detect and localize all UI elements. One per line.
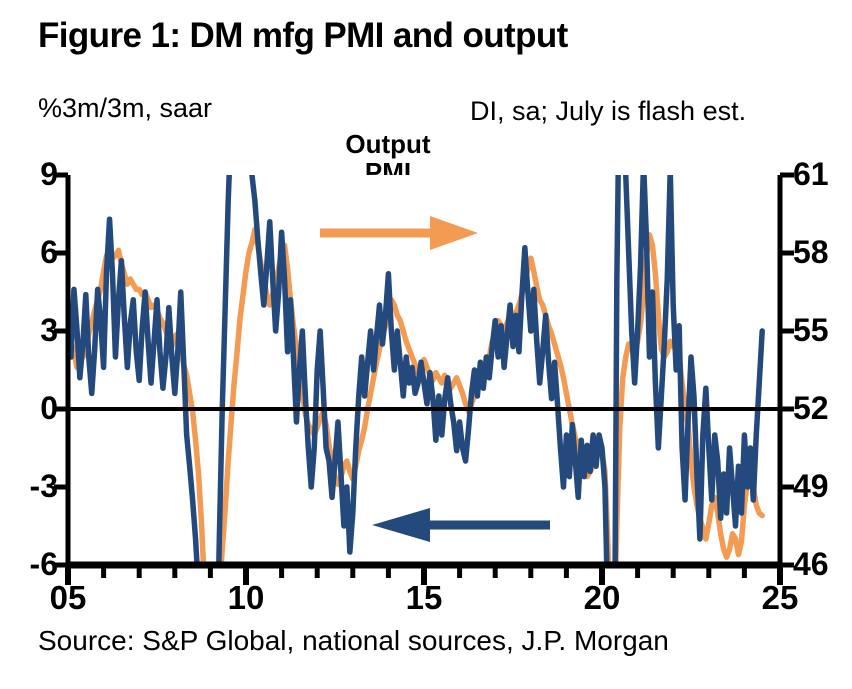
source-note: Source: S&P Global, national sources, J.… xyxy=(38,627,669,655)
x-axis-tick-label: 15 xyxy=(406,581,443,614)
figure-container: Figure 1: DM mfg PMI and output %3m/3m, … xyxy=(0,0,852,689)
x-axis-tick-label: 20 xyxy=(584,581,621,614)
x-axis-tick-label: 25 xyxy=(762,581,799,614)
x-axis-tick-label: 05 xyxy=(50,581,87,614)
x-axis-tick-label: 10 xyxy=(228,581,265,614)
